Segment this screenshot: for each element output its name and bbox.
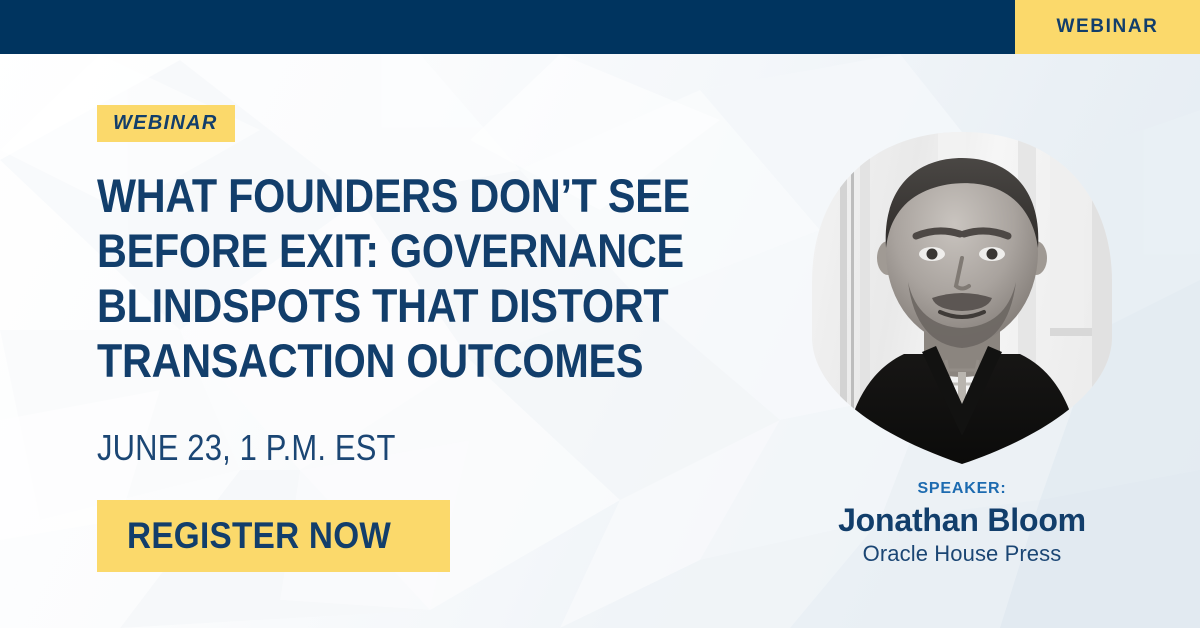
eyebrow-webinar-badge-label: WEBINAR: [113, 112, 218, 134]
top-webinar-badge: WEBINAR: [1015, 0, 1200, 54]
eyebrow-webinar-badge: WEBINAR: [97, 105, 235, 142]
page-title: What Founders Don’t See Before Exit: Gov…: [97, 168, 797, 388]
register-now-button[interactable]: Register Now: [97, 500, 450, 572]
register-now-button-label: Register Now: [127, 517, 391, 554]
speaker-name: Jonathan Bloom: [812, 503, 1112, 538]
top-webinar-badge-label: WEBINAR: [1057, 16, 1159, 38]
speaker-label: Speaker:: [812, 480, 1112, 498]
webinar-promo-banner: WEBINAR WEBINAR What Founders Don’t See …: [0, 0, 1200, 628]
speaker-portrait: [812, 132, 1112, 464]
speaker-credit: Speaker: Jonathan Bloom Oracle House Pre…: [812, 480, 1112, 566]
hero-content: WEBINAR What Founders Don’t See Before E…: [97, 105, 797, 572]
event-datetime: June 23, 1 P.M. EST: [97, 430, 458, 466]
top-navy-bar: [0, 0, 1015, 54]
speaker-organization: Oracle House Press: [812, 541, 1112, 566]
